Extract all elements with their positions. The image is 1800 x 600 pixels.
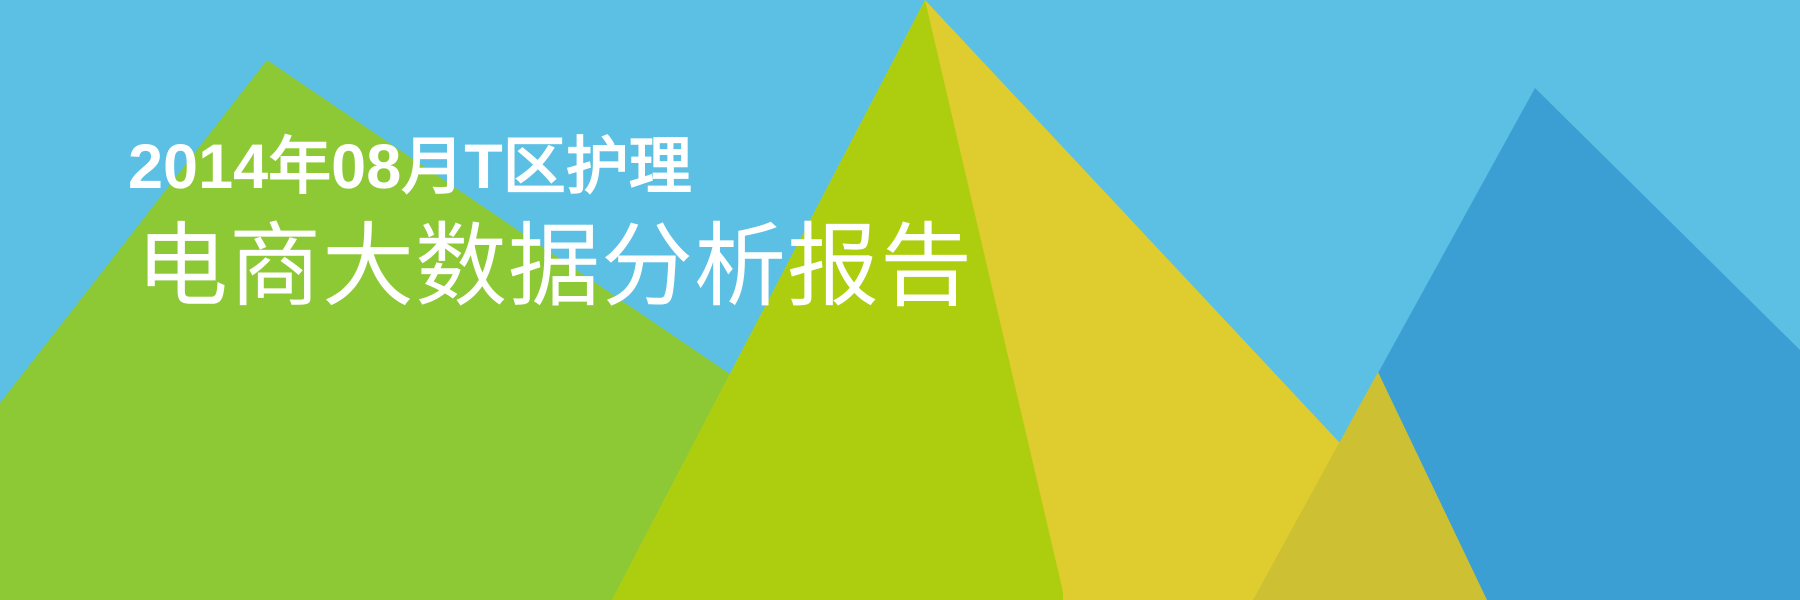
- background-triangles-graphic: [0, 0, 1800, 600]
- cover-slide: 2014年08月T区护理 电商大数据分析报告: [0, 0, 1800, 600]
